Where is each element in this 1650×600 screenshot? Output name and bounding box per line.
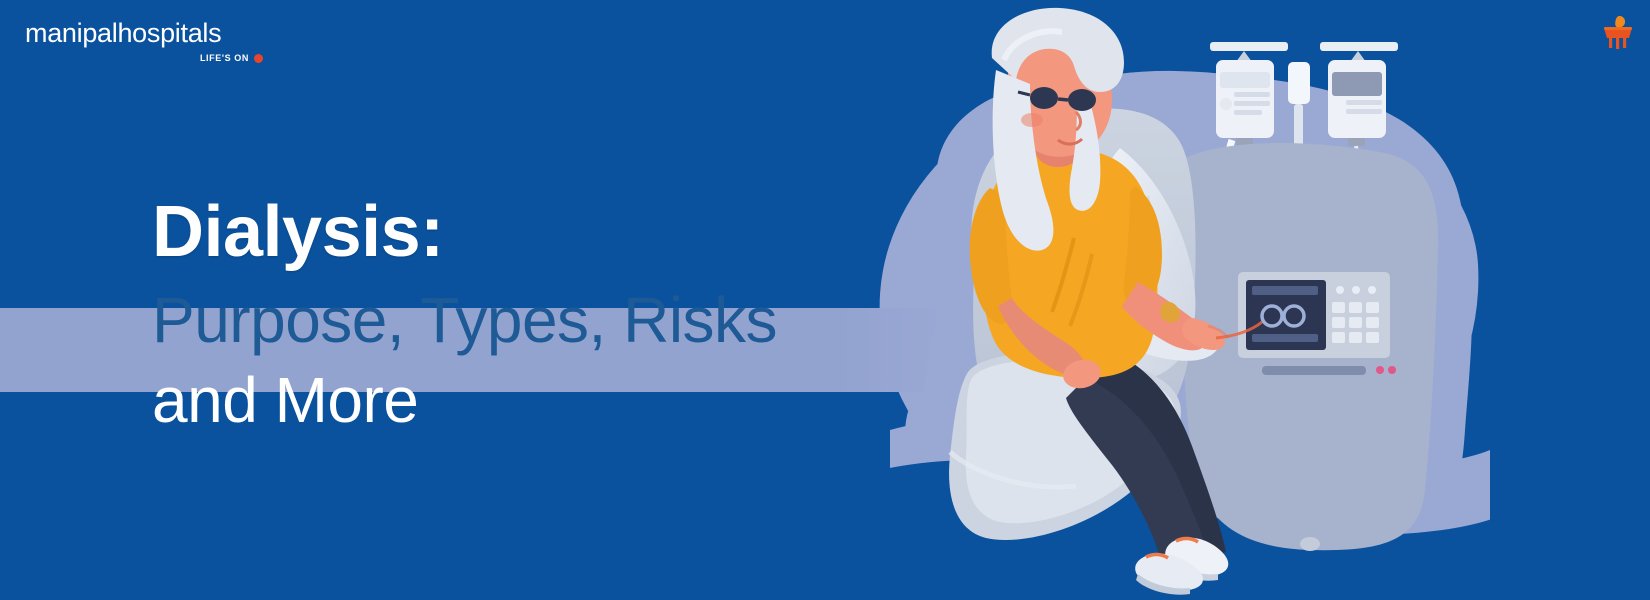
- machine-caster: [1300, 537, 1320, 551]
- cheek-blush: [1021, 113, 1043, 127]
- banner-headline: Dialysis: Purpose, Types, Risks and More: [152, 196, 777, 432]
- logo-wordmark: manipalhospitals: [25, 20, 265, 47]
- iv-drip-chamber: [1288, 62, 1310, 104]
- iv-bag-right: [1328, 60, 1386, 146]
- manipal-hospitals-logo[interactable]: manipalhospitals LIFE'S ON: [25, 20, 265, 63]
- logo-tagline-group: LIFE'S ON: [25, 53, 265, 63]
- iv-tube-middle: [1294, 104, 1303, 148]
- dialysis-banner: manipalhospitals LIFE'S ON Dialysis: Pur…: [0, 0, 1650, 600]
- headline-line-2: Purpose, Types, Risks: [152, 288, 777, 352]
- logo-dot-icon: [254, 54, 263, 63]
- headline-line-1: Dialysis:: [152, 196, 777, 268]
- headline-line-3: and More: [152, 368, 777, 432]
- machine-slot: [1262, 366, 1366, 375]
- iv-rail-right: [1320, 42, 1398, 51]
- patient-receiving-dialysis-illustration: [880, 0, 1500, 600]
- basket-icon[interactable]: [1598, 14, 1636, 56]
- logo-tagline: LIFE'S ON: [200, 53, 249, 63]
- machine-keypad: [1332, 302, 1379, 343]
- iv-bag-left: [1216, 60, 1274, 146]
- iv-rail-left: [1210, 42, 1288, 51]
